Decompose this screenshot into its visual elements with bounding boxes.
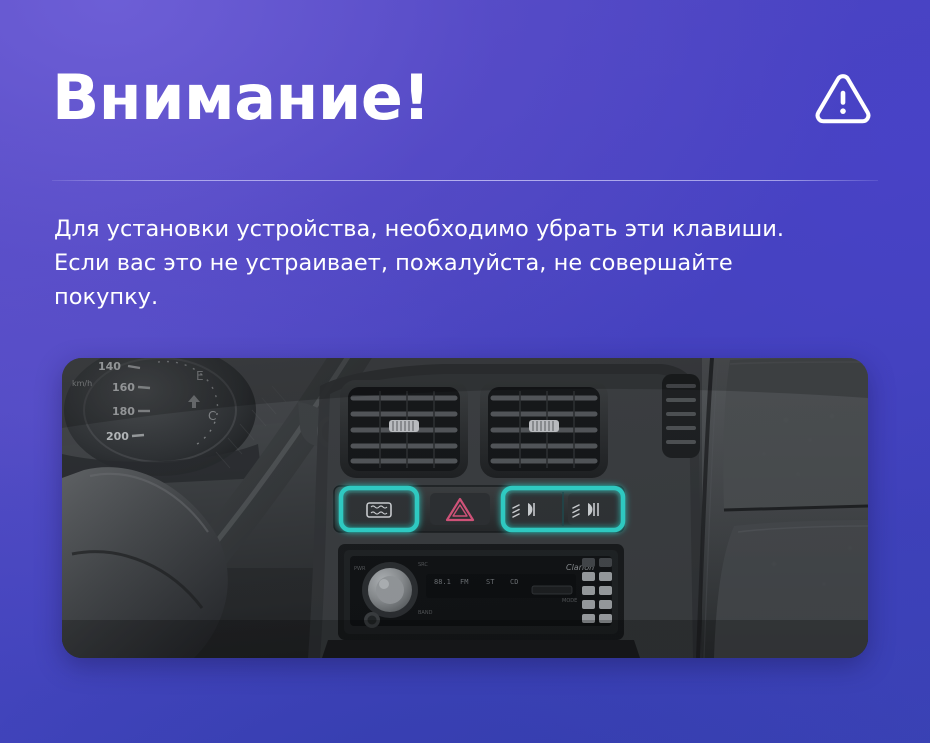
body-copy: Для установки устройства, необходимо убр… <box>54 212 884 314</box>
body-line-3: покупку. <box>54 280 884 314</box>
header-divider <box>52 180 878 181</box>
body-line-1: Для установки устройства, необходимо убр… <box>54 212 884 246</box>
body-line-2: Если вас это не устраивает, пожалуйста, … <box>54 246 884 280</box>
dashboard-photo: 140 160 180 200 km/h E C <box>62 358 868 658</box>
warning-banner: Внимание! Для установки устройства, необ… <box>0 0 930 743</box>
warning-triangle-icon <box>812 67 874 129</box>
banner-header: Внимание! <box>52 50 878 145</box>
page-title: Внимание! <box>52 67 430 129</box>
